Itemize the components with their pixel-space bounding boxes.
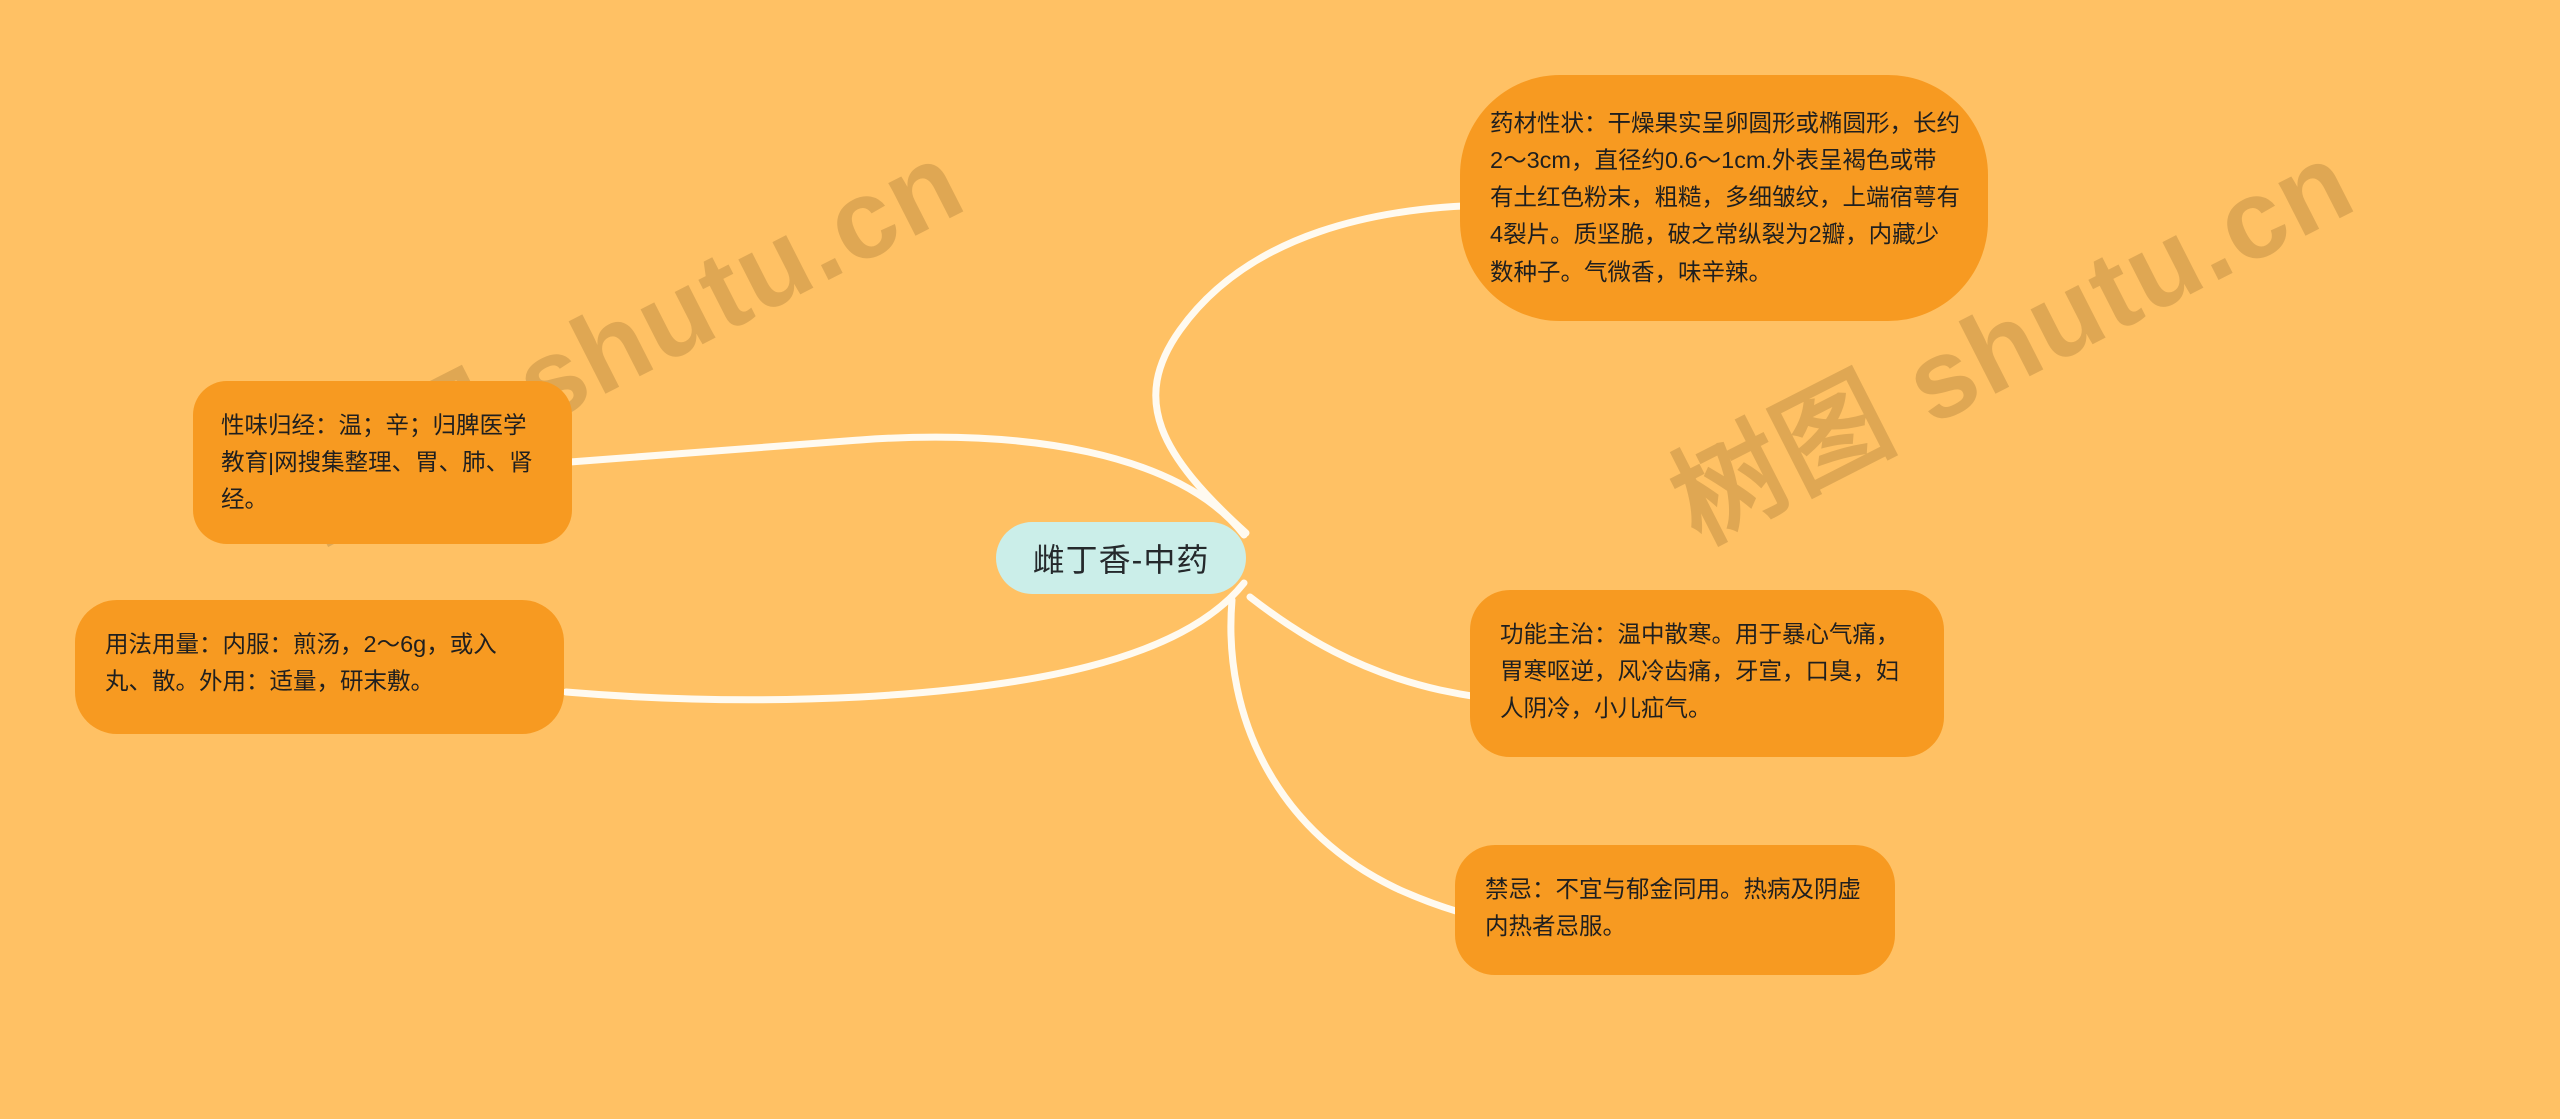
connector-to-yaocai (1156, 205, 1490, 533)
node-yaocai-xingzhuang-text: 药材性状：干燥果实呈卵圆形或椭圆形，长约2～3cm，直径约0.6～1cm.外表呈… (1490, 105, 1960, 291)
node-gongneng-zhuzhi-text: 功能主治：温中散寒。用于暴心气痛，胃寒呕逆，风冷齿痛，牙宣，口臭，妇人阴冷，小儿… (1500, 616, 1918, 727)
mindmap-canvas: 树图 shutu.cn 树图 shutu.cn 性味归经：温；辛；归脾医学教育|… (0, 0, 2560, 1119)
node-xingwei-guijing-text: 性味归经：温；辛；归脾医学教育|网搜集整理、胃、肺、肾经。 (221, 407, 548, 518)
node-jinji-text: 禁忌：不宜与郁金同用。热病及阴虚内热者忌服。 (1485, 871, 1869, 945)
connector-to-yongfa (566, 583, 1244, 700)
node-yongfa-yongliang-text: 用法用量：内服：煎汤，2～6g，或入丸、散。外用：适量，研末敷。 (105, 626, 538, 700)
center-node[interactable]: 雌丁香-中药 (996, 522, 1246, 594)
node-jinji[interactable]: 禁忌：不宜与郁金同用。热病及阴虚内热者忌服。 (1455, 845, 1895, 975)
node-yaocai-xingzhuang[interactable]: 药材性状：干燥果实呈卵圆形或椭圆形，长约2～3cm，直径约0.6～1cm.外表呈… (1460, 75, 1988, 321)
node-xingwei-guijing[interactable]: 性味归经：温；辛；归脾医学教育|网搜集整理、胃、肺、肾经。 (193, 381, 572, 544)
connector-to-xingwei (570, 437, 1244, 535)
node-yongfa-yongliang[interactable]: 用法用量：内服：煎汤，2～6g，或入丸、散。外用：适量，研末敷。 (75, 600, 564, 734)
connector-layer (0, 0, 2560, 1119)
center-node-label: 雌丁香-中药 (1033, 535, 1210, 581)
node-gongneng-zhuzhi[interactable]: 功能主治：温中散寒。用于暴心气痛，胃寒呕逆，风冷齿痛，牙宣，口臭，妇人阴冷，小儿… (1470, 590, 1944, 757)
